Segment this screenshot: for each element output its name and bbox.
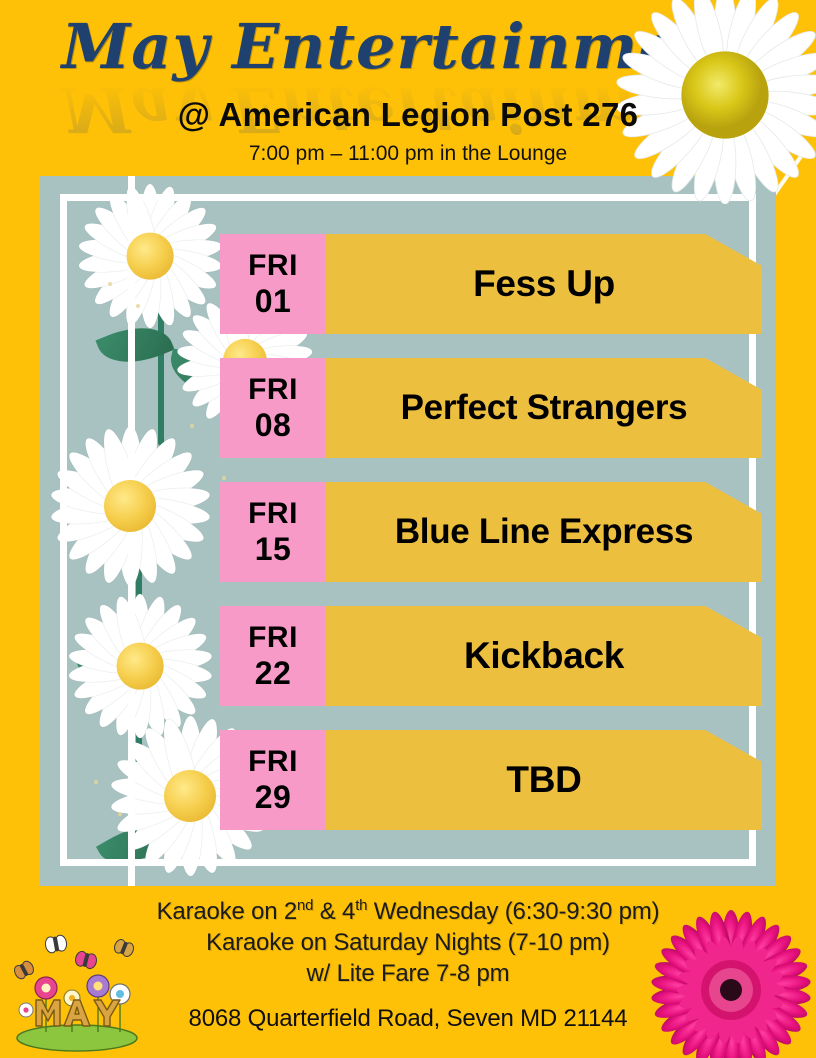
schedule-rows: FRI 01 Fess Up FRI 08 Perfect Strangers … bbox=[40, 176, 776, 886]
ordinal-nd: nd bbox=[297, 897, 313, 914]
gerbera-flower-icon bbox=[636, 908, 816, 1058]
date-chip: FRI 22 bbox=[220, 606, 326, 706]
date-chip: FRI 08 bbox=[220, 358, 326, 458]
act-name: Blue Line Express bbox=[381, 512, 707, 552]
date-chip: FRI 29 bbox=[220, 730, 326, 830]
may-clipart-icon bbox=[2, 922, 152, 1052]
venue-line: @ American Legion Post 276 bbox=[0, 96, 816, 134]
act-band: Perfect Strangers bbox=[326, 358, 762, 458]
ordinal-th: th bbox=[355, 897, 367, 914]
date-dow: FRI bbox=[248, 745, 298, 779]
karaoke-weds-pre: Karaoke on 2 bbox=[157, 898, 297, 925]
act-name: Kickback bbox=[450, 635, 638, 677]
act-band: Fess Up bbox=[326, 234, 762, 334]
act-name: Fess Up bbox=[459, 263, 629, 305]
date-number: 01 bbox=[255, 283, 292, 319]
schedule-panel: FRI 01 Fess Up FRI 08 Perfect Strangers … bbox=[40, 176, 776, 886]
date-dow: FRI bbox=[248, 249, 298, 283]
date-chip: FRI 15 bbox=[220, 482, 326, 582]
act-band: Blue Line Express bbox=[326, 482, 762, 582]
karaoke-weds-mid: & 4 bbox=[313, 898, 355, 925]
page-title: May Entertainment bbox=[0, 14, 816, 80]
act-name: TBD bbox=[492, 759, 595, 801]
date-dow: FRI bbox=[248, 497, 298, 531]
date-chip: FRI 01 bbox=[220, 234, 326, 334]
date-number: 22 bbox=[255, 655, 292, 691]
act-band: TBD bbox=[326, 730, 762, 830]
date-number: 15 bbox=[255, 531, 292, 567]
karaoke-weds-post: Wednesday (6:30-9:30 pm) bbox=[367, 898, 659, 925]
times-line: 7:00 pm – 11:00 pm in the Lounge bbox=[0, 142, 816, 166]
act-band: Kickback bbox=[326, 606, 762, 706]
date-number: 08 bbox=[255, 407, 292, 443]
date-dow: FRI bbox=[248, 373, 298, 407]
act-name: Perfect Strangers bbox=[387, 388, 702, 428]
date-number: 29 bbox=[255, 779, 292, 815]
flyer-header: May Entertainment May Entertainment @ Am… bbox=[0, 0, 816, 176]
date-dow: FRI bbox=[248, 621, 298, 655]
